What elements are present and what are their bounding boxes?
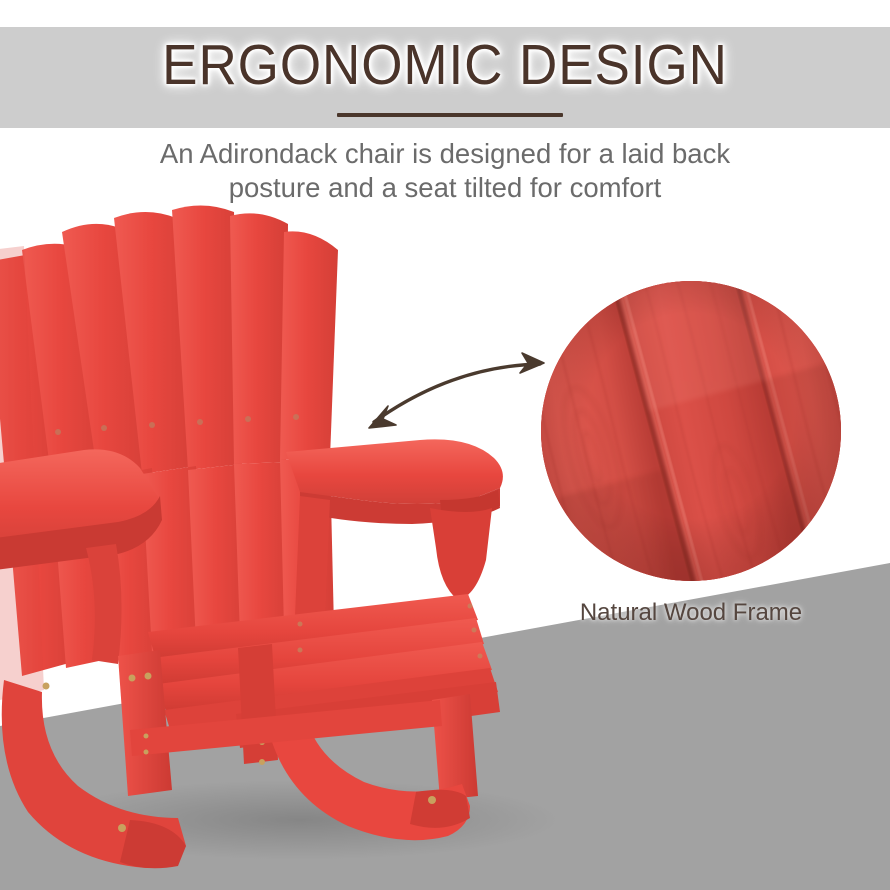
wood-detail-circle-inset bbox=[541, 281, 841, 581]
title-underline-rule bbox=[337, 113, 563, 117]
subtitle-line-2: posture and a seat tilted for comfort bbox=[95, 171, 795, 205]
subtitle-line-1: An Adirondack chair is designed for a la… bbox=[95, 137, 795, 171]
page-subtitle: An Adirondack chair is designed for a la… bbox=[95, 137, 795, 205]
callout-arrow bbox=[352, 340, 562, 440]
right-arm-bracket bbox=[430, 508, 492, 600]
page-title: ERGONOMIC DESIGN bbox=[31, 34, 859, 96]
product-infographic: ERGONOMIC DESIGN An Adirondack chair is … bbox=[0, 0, 890, 890]
wood-detail-caption: Natural Wood Frame bbox=[541, 598, 841, 628]
